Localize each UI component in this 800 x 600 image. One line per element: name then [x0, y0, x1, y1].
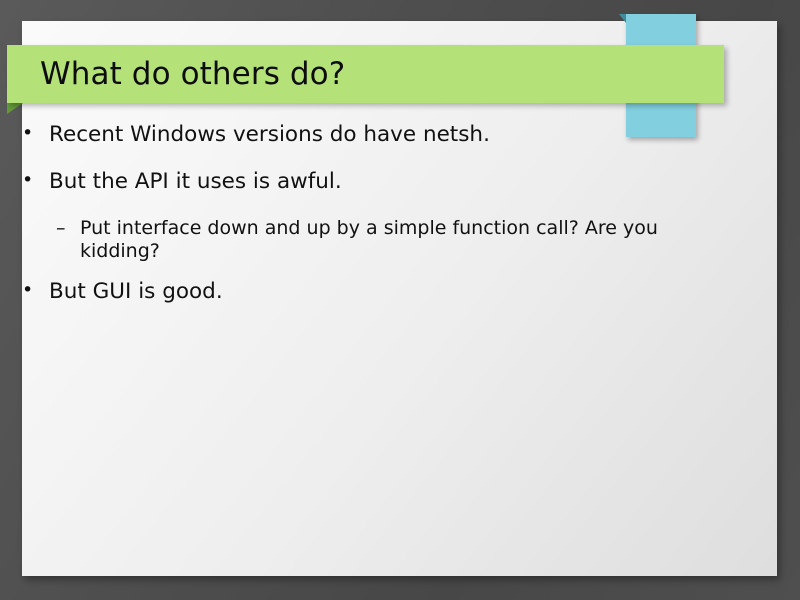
sub-bullet-item: – Put interface down and up by a simple … [22, 217, 737, 263]
bullet-text: Recent Windows versions do have netsh. [49, 122, 737, 147]
accent-bar-fold-shape [619, 14, 626, 23]
title-banner-fold-shape [7, 103, 23, 114]
bullet-dot-icon: • [22, 169, 49, 193]
presentation-backdrop: What do others do? • Recent Windows vers… [0, 0, 800, 600]
bullet-dash-icon: – [56, 217, 80, 240]
bullet-item: • But the API it uses is awful. [22, 169, 737, 194]
bullet-item: • But GUI is good. [22, 279, 737, 304]
bullet-text: But GUI is good. [49, 279, 737, 304]
bullet-dot-icon: • [22, 122, 49, 146]
sub-bullet-text: Put interface down and up by a simple fu… [80, 217, 728, 263]
title-banner: What do others do? [7, 45, 724, 103]
bullet-text: But the API it uses is awful. [49, 169, 737, 194]
bullet-item: • Recent Windows versions do have netsh. [22, 122, 737, 147]
slide-title: What do others do? [7, 59, 345, 90]
bullet-dot-icon: • [22, 279, 49, 303]
slide-body: • Recent Windows versions do have netsh.… [22, 122, 737, 326]
